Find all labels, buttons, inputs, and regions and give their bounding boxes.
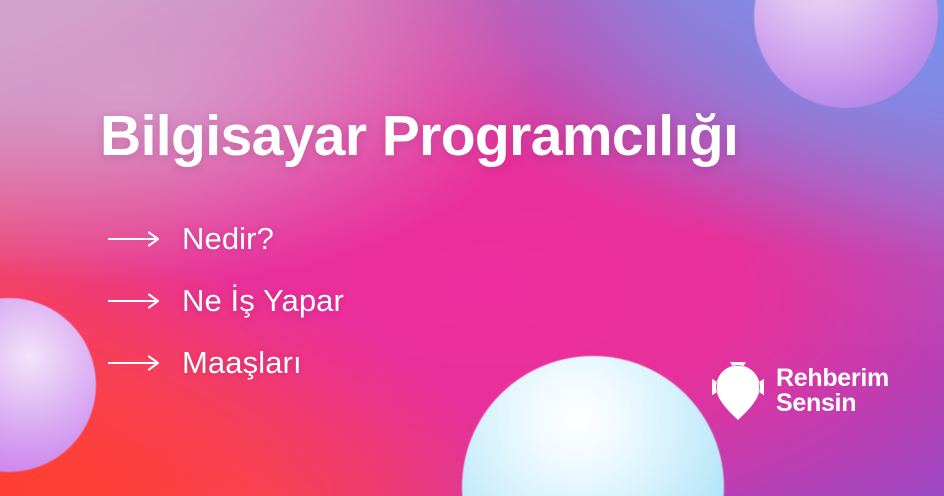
- map-pin-compass-icon: [712, 362, 764, 420]
- bullet-label: Maaşları: [182, 345, 302, 381]
- brand-logo: Rehberim Sensin: [712, 362, 889, 420]
- bullet-list: Nedir? Ne İş Yapar Maa: [108, 208, 344, 394]
- brand-name-line-2: Sensin: [776, 391, 889, 417]
- brand-name-line-1: Rehberim: [776, 366, 889, 392]
- banner-content: Bilgisayar Programcılığı Nedir?: [0, 0, 944, 496]
- promo-banner: Bilgisayar Programcılığı Nedir?: [0, 0, 944, 496]
- arrow-right-icon: [108, 354, 164, 372]
- list-item: Nedir?: [108, 208, 344, 270]
- logo-inner-dot: [729, 378, 746, 395]
- bullet-label: Nedir?: [182, 221, 274, 257]
- arrow-right-icon: [108, 230, 164, 248]
- bullet-label: Ne İş Yapar: [182, 283, 344, 319]
- list-item: Ne İş Yapar: [108, 270, 344, 332]
- brand-logo-text: Rehberim Sensin: [776, 366, 889, 417]
- arrow-right-icon: [108, 292, 164, 310]
- list-item: Maaşları: [108, 332, 344, 394]
- banner-title: Bilgisayar Programcılığı: [100, 108, 738, 165]
